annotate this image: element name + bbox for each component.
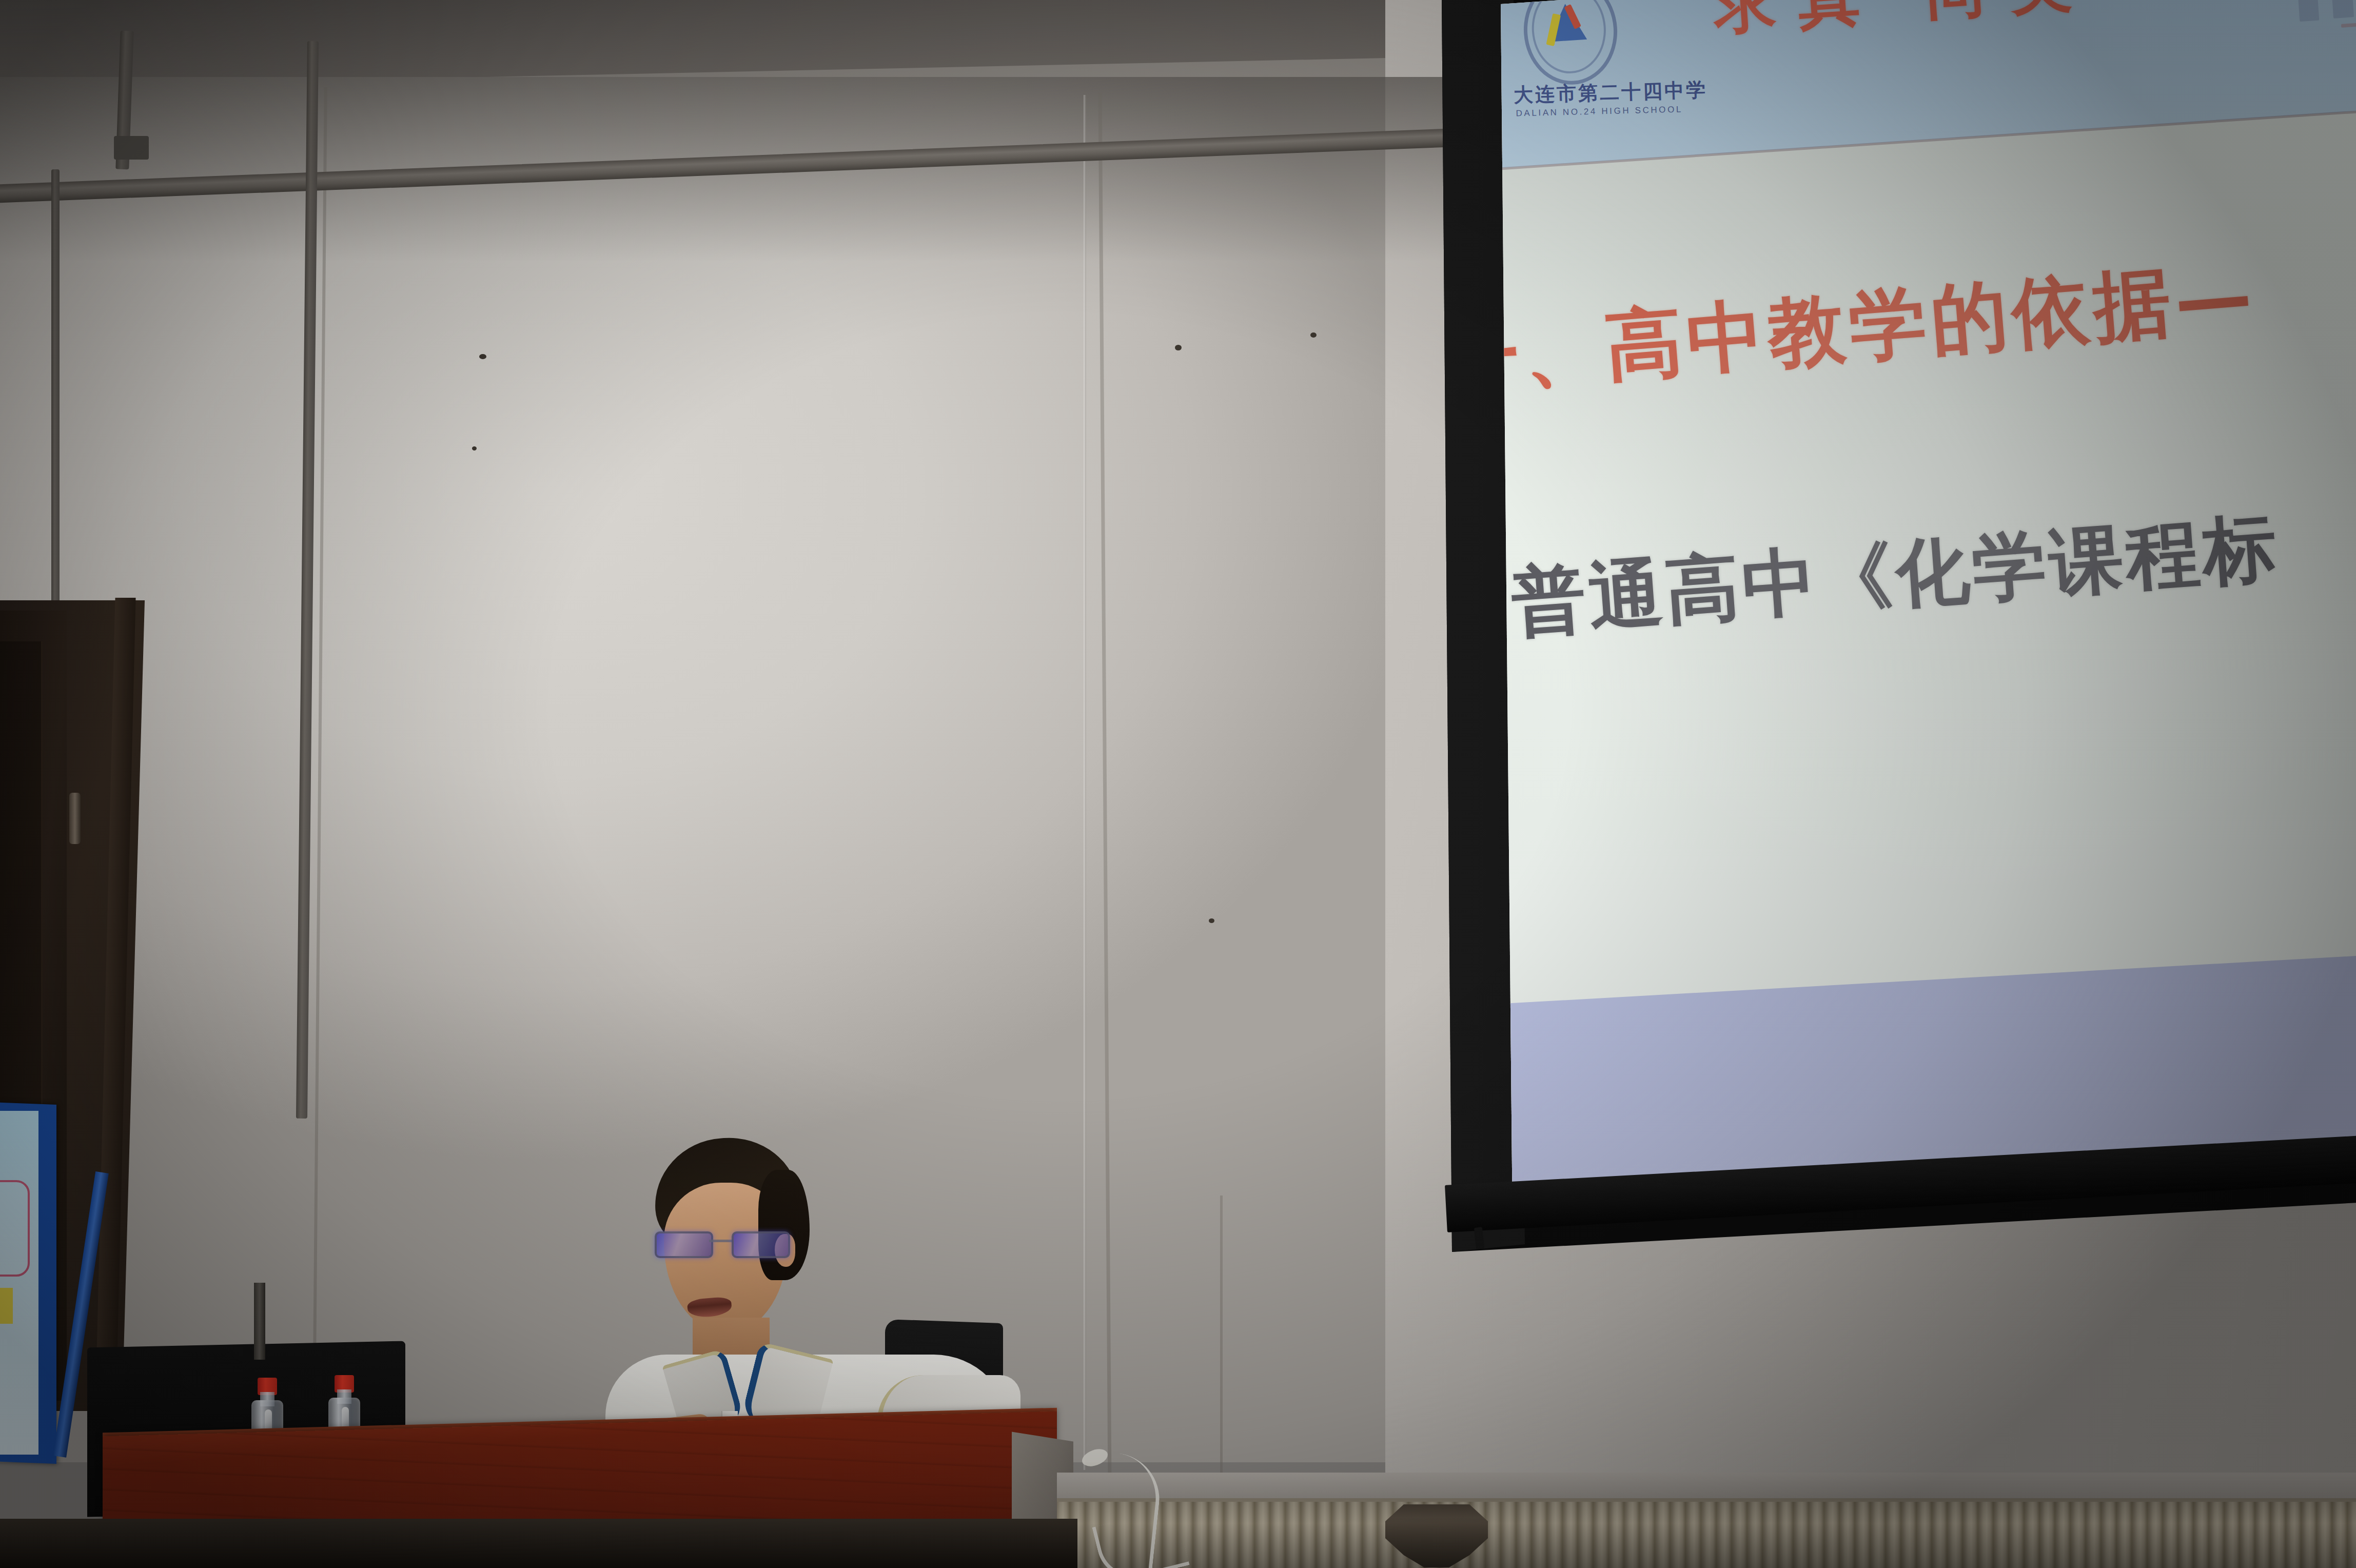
notice-board-yellow-panel [0,1288,13,1324]
wall-speck [479,354,486,359]
projection-screen: 大连市第二十四中学 DALIAN NO.24 HIGH SCHOOL 求真 尚美… [1396,0,2356,1334]
slide-heading: 一、高中教学的依据— [1439,245,2260,414]
eyeglasses-icon [655,1231,793,1258]
decoration-line-red [2341,21,2356,28]
wall-panel-edge-1 [1084,95,1086,1470]
eyeglass-bridge [709,1240,733,1242]
wall-seam-3 [1220,1195,1223,1483]
screen-surface: 大连市第二十四中学 DALIAN NO.24 HIGH SCHOOL 求真 尚美… [1396,0,2356,1334]
notice-board-face [0,1111,38,1455]
wall-speck [1209,918,1214,923]
chair-post [254,1283,265,1360]
door-handle[interactable] [69,793,81,844]
school-name-cn: 大连市第二十四中学 [1514,77,1708,109]
notice-board-pink-panel [0,1180,30,1277]
slide-header-decoration [2234,0,2356,51]
slide-subheading: 普通高中《化学课程标 [1508,498,2283,654]
wall-conduit-vertical-2 [51,169,60,631]
floor-shadow [0,1519,1077,1568]
eyeglass-lens-right [732,1231,790,1258]
wall-speck [472,446,477,450]
wall-speck [1175,345,1182,350]
slide: 大连市第二十四中学 DALIAN NO.24 HIGH SCHOOL 求真 尚美… [1396,0,2356,1252]
school-logo: 大连市第二十四中学 DALIAN NO.24 HIGH SCHOOL [1506,0,1634,134]
pipe-bracket [114,136,149,160]
lecture-hall-photo: 大连市第二十四中学 DALIAN NO.24 HIGH SCHOOL 求真 尚美… [0,0,2356,1568]
decoration-block [2298,0,2319,22]
radiator [1057,1498,2356,1568]
wall-speck [1310,332,1317,338]
eyeglass-lens-left [655,1231,713,1258]
presenter [621,1134,1011,1452]
decoration-block [2332,0,2354,18]
